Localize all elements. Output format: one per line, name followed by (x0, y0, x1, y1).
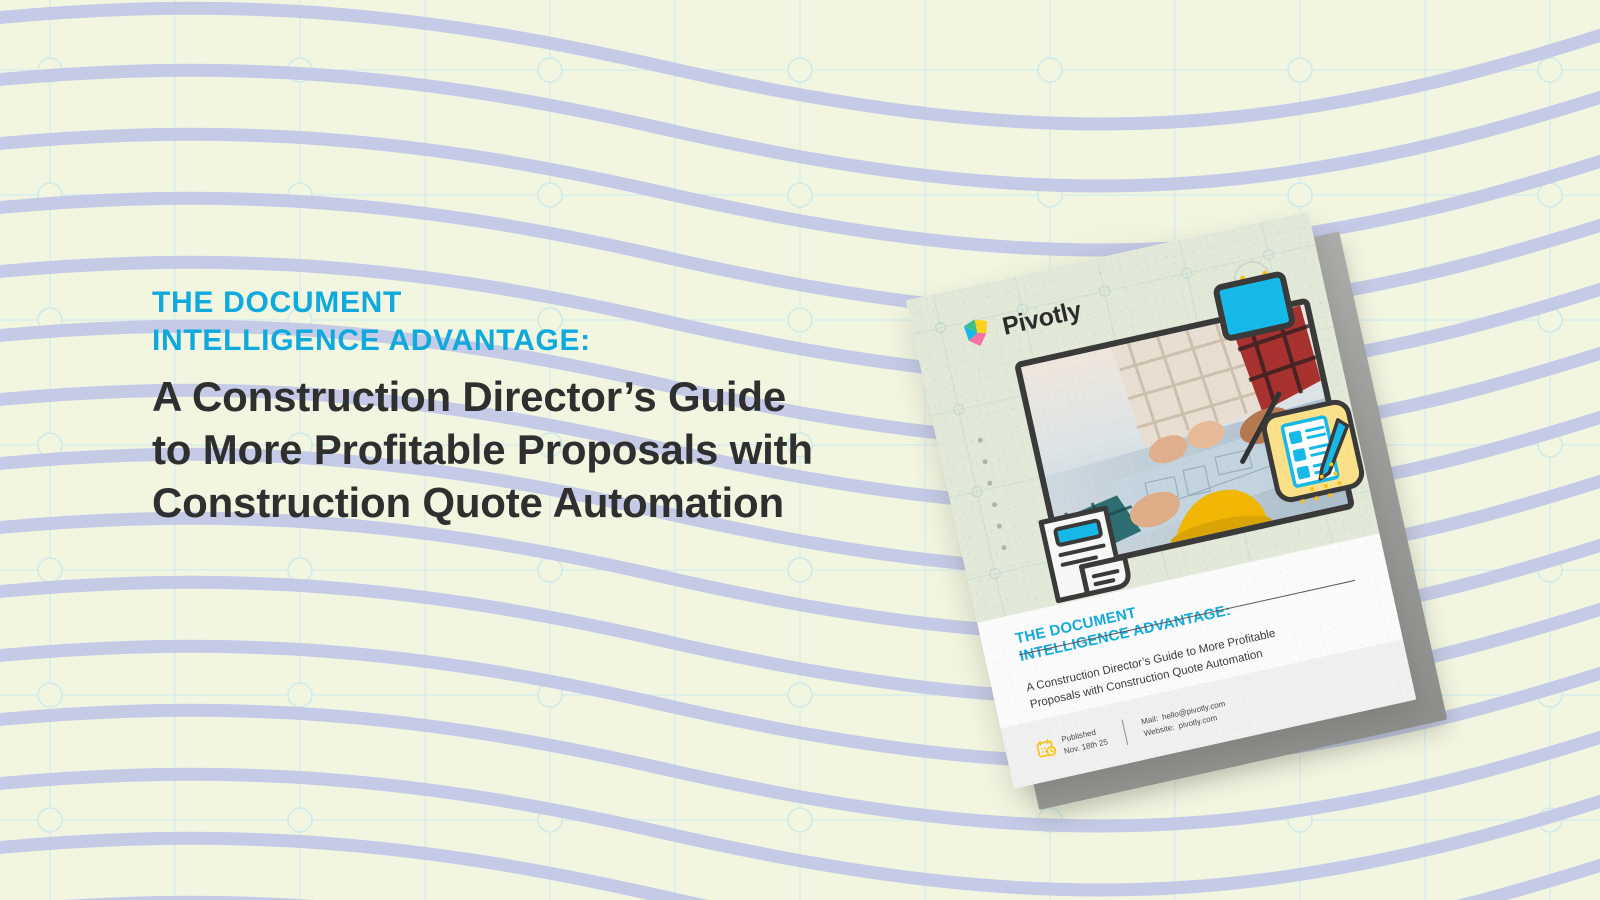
page-title-line-1: A Construction Director’s Guide (152, 370, 912, 423)
rail-dot (992, 502, 998, 508)
pivotly-pinwheel-icon (957, 312, 998, 353)
page-title-line-2: to More Profitable Proposals with (152, 423, 912, 476)
rail-dot (982, 459, 988, 465)
published-text: Published Nov. 18th 25 (1060, 725, 1109, 757)
headline-eyebrow: THE DOCUMENT INTELLIGENCE ADVANTAGE: (152, 284, 912, 360)
hero-banner: THE DOCUMENT INTELLIGENCE ADVANTAGE: A C… (0, 0, 1600, 900)
rail-dot (996, 523, 1002, 529)
headline-eyebrow-line-2: INTELLIGENCE ADVANTAGE: (152, 322, 912, 360)
contact-block: Mail: hello@pivotly.com Website: pivotly… (1140, 698, 1229, 741)
page-title-line-3: Construction Quote Automation (152, 476, 912, 529)
page-title: A Construction Director’s Guide to More … (152, 370, 912, 530)
headline-eyebrow-line-1: THE DOCUMENT (152, 284, 912, 322)
headline-block: THE DOCUMENT INTELLIGENCE ADVANTAGE: A C… (152, 284, 912, 530)
rail-dot (1001, 545, 1007, 551)
rail-dot (987, 480, 993, 486)
ebook-mockup: Pivotly (905, 110, 1465, 790)
mail-label: Mail: (1140, 714, 1158, 726)
calendar-clock-icon (1034, 737, 1058, 761)
published-block: Published Nov. 18th 25 (1034, 725, 1109, 763)
rail-dot (977, 437, 983, 443)
footer-divider (1121, 720, 1128, 746)
